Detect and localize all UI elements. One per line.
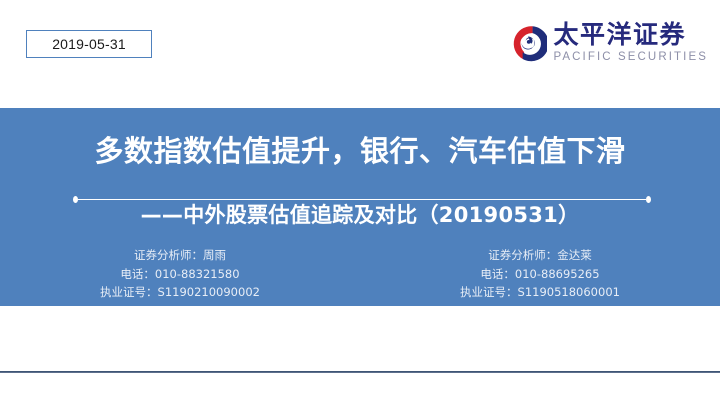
rule-line: [78, 199, 646, 201]
analyst-block-left: 证券分析师：周雨 电话：010-88321580 执业证号：S119021009…: [0, 246, 360, 302]
analyst-phone-left: 电话：010-88321580: [0, 265, 360, 284]
analyst-block-right: 证券分析师：金达莱 电话：010-88695265 执业证号：S11905180…: [360, 246, 720, 302]
page-title: 多数指数估值提升，银行、汽车估值下滑: [0, 136, 720, 168]
footer-divider: [0, 371, 720, 373]
analyst-license-left: 执业证号：S1190210090002: [0, 283, 360, 302]
analyst-phone-right: 电话：010-88695265: [360, 265, 720, 284]
analyst-name-left: 证券分析师：周雨: [0, 246, 360, 265]
company-logo: 太平洋证券 PACIFIC SECURITIES: [509, 22, 708, 64]
slide-body: [0, 306, 720, 405]
logo-name-en: PACIFIC SECURITIES: [553, 52, 708, 64]
date-label: 2019-05-31: [52, 36, 126, 52]
pacific-securities-swirl-icon: [509, 24, 547, 62]
analyst-name-right: 证券分析师：金达莱: [360, 246, 720, 265]
logo-text-block: 太平洋证券 PACIFIC SECURITIES: [553, 22, 708, 64]
date-badge: 2019-05-31: [26, 30, 152, 58]
slide-header: 2019-05-31 太平洋证券 PACIFIC SECURITIES: [0, 0, 720, 108]
page-subtitle: ——中外股票估值追踪及对比（20190531）: [0, 202, 720, 228]
title-banner: 多数指数估值提升，银行、汽车估值下滑 ——中外股票估值追踪及对比（2019053…: [0, 108, 720, 306]
analyst-license-right: 执业证号：S1190518060001: [360, 283, 720, 302]
logo-name-cn: 太平洋证券: [553, 22, 708, 47]
analyst-info-group: 证券分析师：周雨 电话：010-88321580 执业证号：S119021009…: [0, 246, 720, 302]
